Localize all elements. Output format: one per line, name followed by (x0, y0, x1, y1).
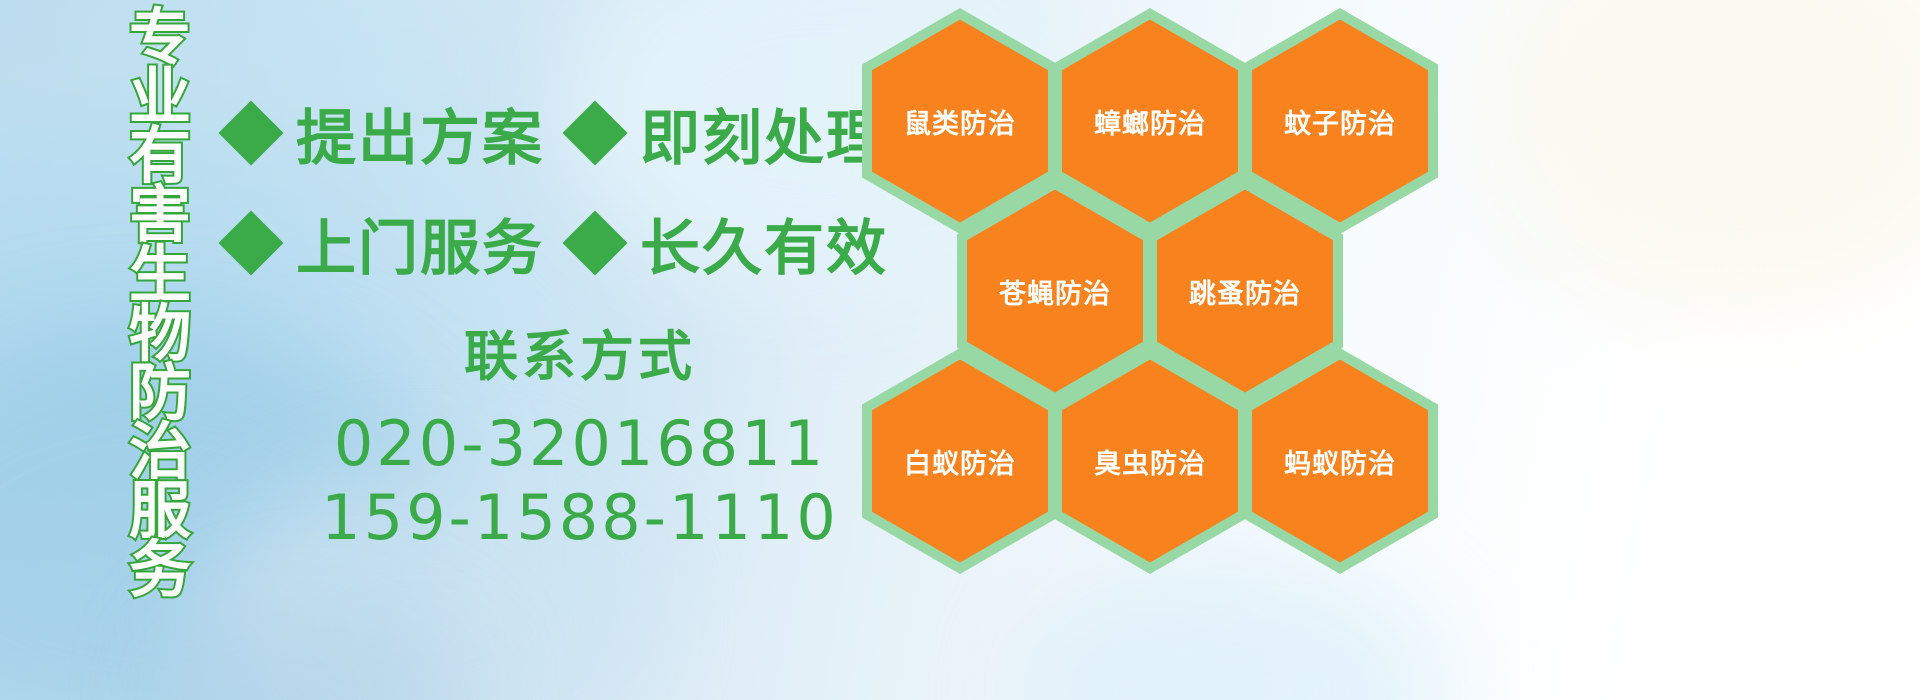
hexagon-inner: 白蚁防治 (872, 360, 1048, 563)
service-hexagon-label: 苍蝇防治 (999, 272, 1111, 311)
feature-row: 上门服务 长久有效 (228, 188, 868, 298)
vertical-slogan-char: 服 (129, 481, 191, 541)
vertical-slogan-char: 防 (129, 363, 191, 423)
service-hexagon-label: 白蚁防治 (904, 442, 1016, 481)
hexagon-inner: 臭虫防治 (1062, 360, 1238, 563)
feature-label: 即刻处理 (640, 90, 888, 177)
diamond-bullet-icon (562, 210, 627, 275)
vertical-slogan-char: 治 (129, 422, 191, 482)
feature-label: 上门服务 (296, 200, 544, 287)
diamond-bullet-icon (218, 100, 283, 165)
vertical-slogan-char: 生 (129, 245, 191, 305)
hexagon-inner: 蚂蚁防治 (1252, 360, 1428, 563)
background-blur-blob (1020, 560, 1450, 700)
vertical-slogan-char: 务 (129, 540, 191, 600)
contact-block: 联系方式 020-32016811 159-1588-1110 (300, 312, 860, 556)
contact-title: 联系方式 (300, 312, 860, 391)
contact-phone-mobile[interactable]: 159-1588-1110 (300, 481, 860, 555)
hexagon-inner: 鼠类防治 (872, 20, 1048, 223)
background-blur-blob (1480, 0, 1920, 320)
vertical-slogan: 专 业 有 害 生 物 防 治 服 务 (112, 8, 208, 599)
hexagon-inner: 蚊子防治 (1252, 20, 1428, 223)
pest-control-banner: 专 业 有 害 生 物 防 治 服 务 提出方案 即刻处理 上门服务 长久有效 … (0, 0, 1920, 700)
hexagon-inner: 蟑螂防治 (1062, 20, 1238, 223)
diamond-bullet-icon (562, 100, 627, 165)
feature-label: 长久有效 (640, 200, 888, 287)
service-hexagon-label: 跳蚤防治 (1189, 272, 1301, 311)
feature-row: 提出方案 即刻处理 (228, 78, 868, 188)
feature-list: 提出方案 即刻处理 上门服务 长久有效 (228, 78, 868, 298)
vertical-slogan-char: 物 (129, 304, 191, 364)
service-hexagon-label: 臭虫防治 (1094, 442, 1206, 481)
service-hexagon-label: 蚂蚁防治 (1284, 442, 1396, 481)
service-hexagon-label: 鼠类防治 (904, 102, 1016, 141)
vertical-slogan-char: 业 (129, 67, 191, 127)
service-hexagon-label: 蟑螂防治 (1094, 102, 1206, 141)
service-hexagon-grid: 鼠类防治 蟑螂防治 蚊子防治 苍蝇防治 跳蚤防治 白蚁防治 (862, 0, 1462, 580)
hexagon-inner: 苍蝇防治 (967, 190, 1143, 393)
vertical-slogan-char: 有 (129, 126, 191, 186)
hexagon-inner: 跳蚤防治 (1157, 190, 1333, 393)
feature-label: 提出方案 (296, 90, 544, 177)
vertical-slogan-char: 专 (129, 8, 191, 68)
vertical-slogan-char: 害 (129, 185, 191, 245)
diamond-bullet-icon (218, 210, 283, 275)
background-blur-blob (170, 600, 470, 700)
contact-phone-landline[interactable]: 020-32016811 (300, 407, 860, 481)
service-hexagon-label: 蚊子防治 (1284, 102, 1396, 141)
